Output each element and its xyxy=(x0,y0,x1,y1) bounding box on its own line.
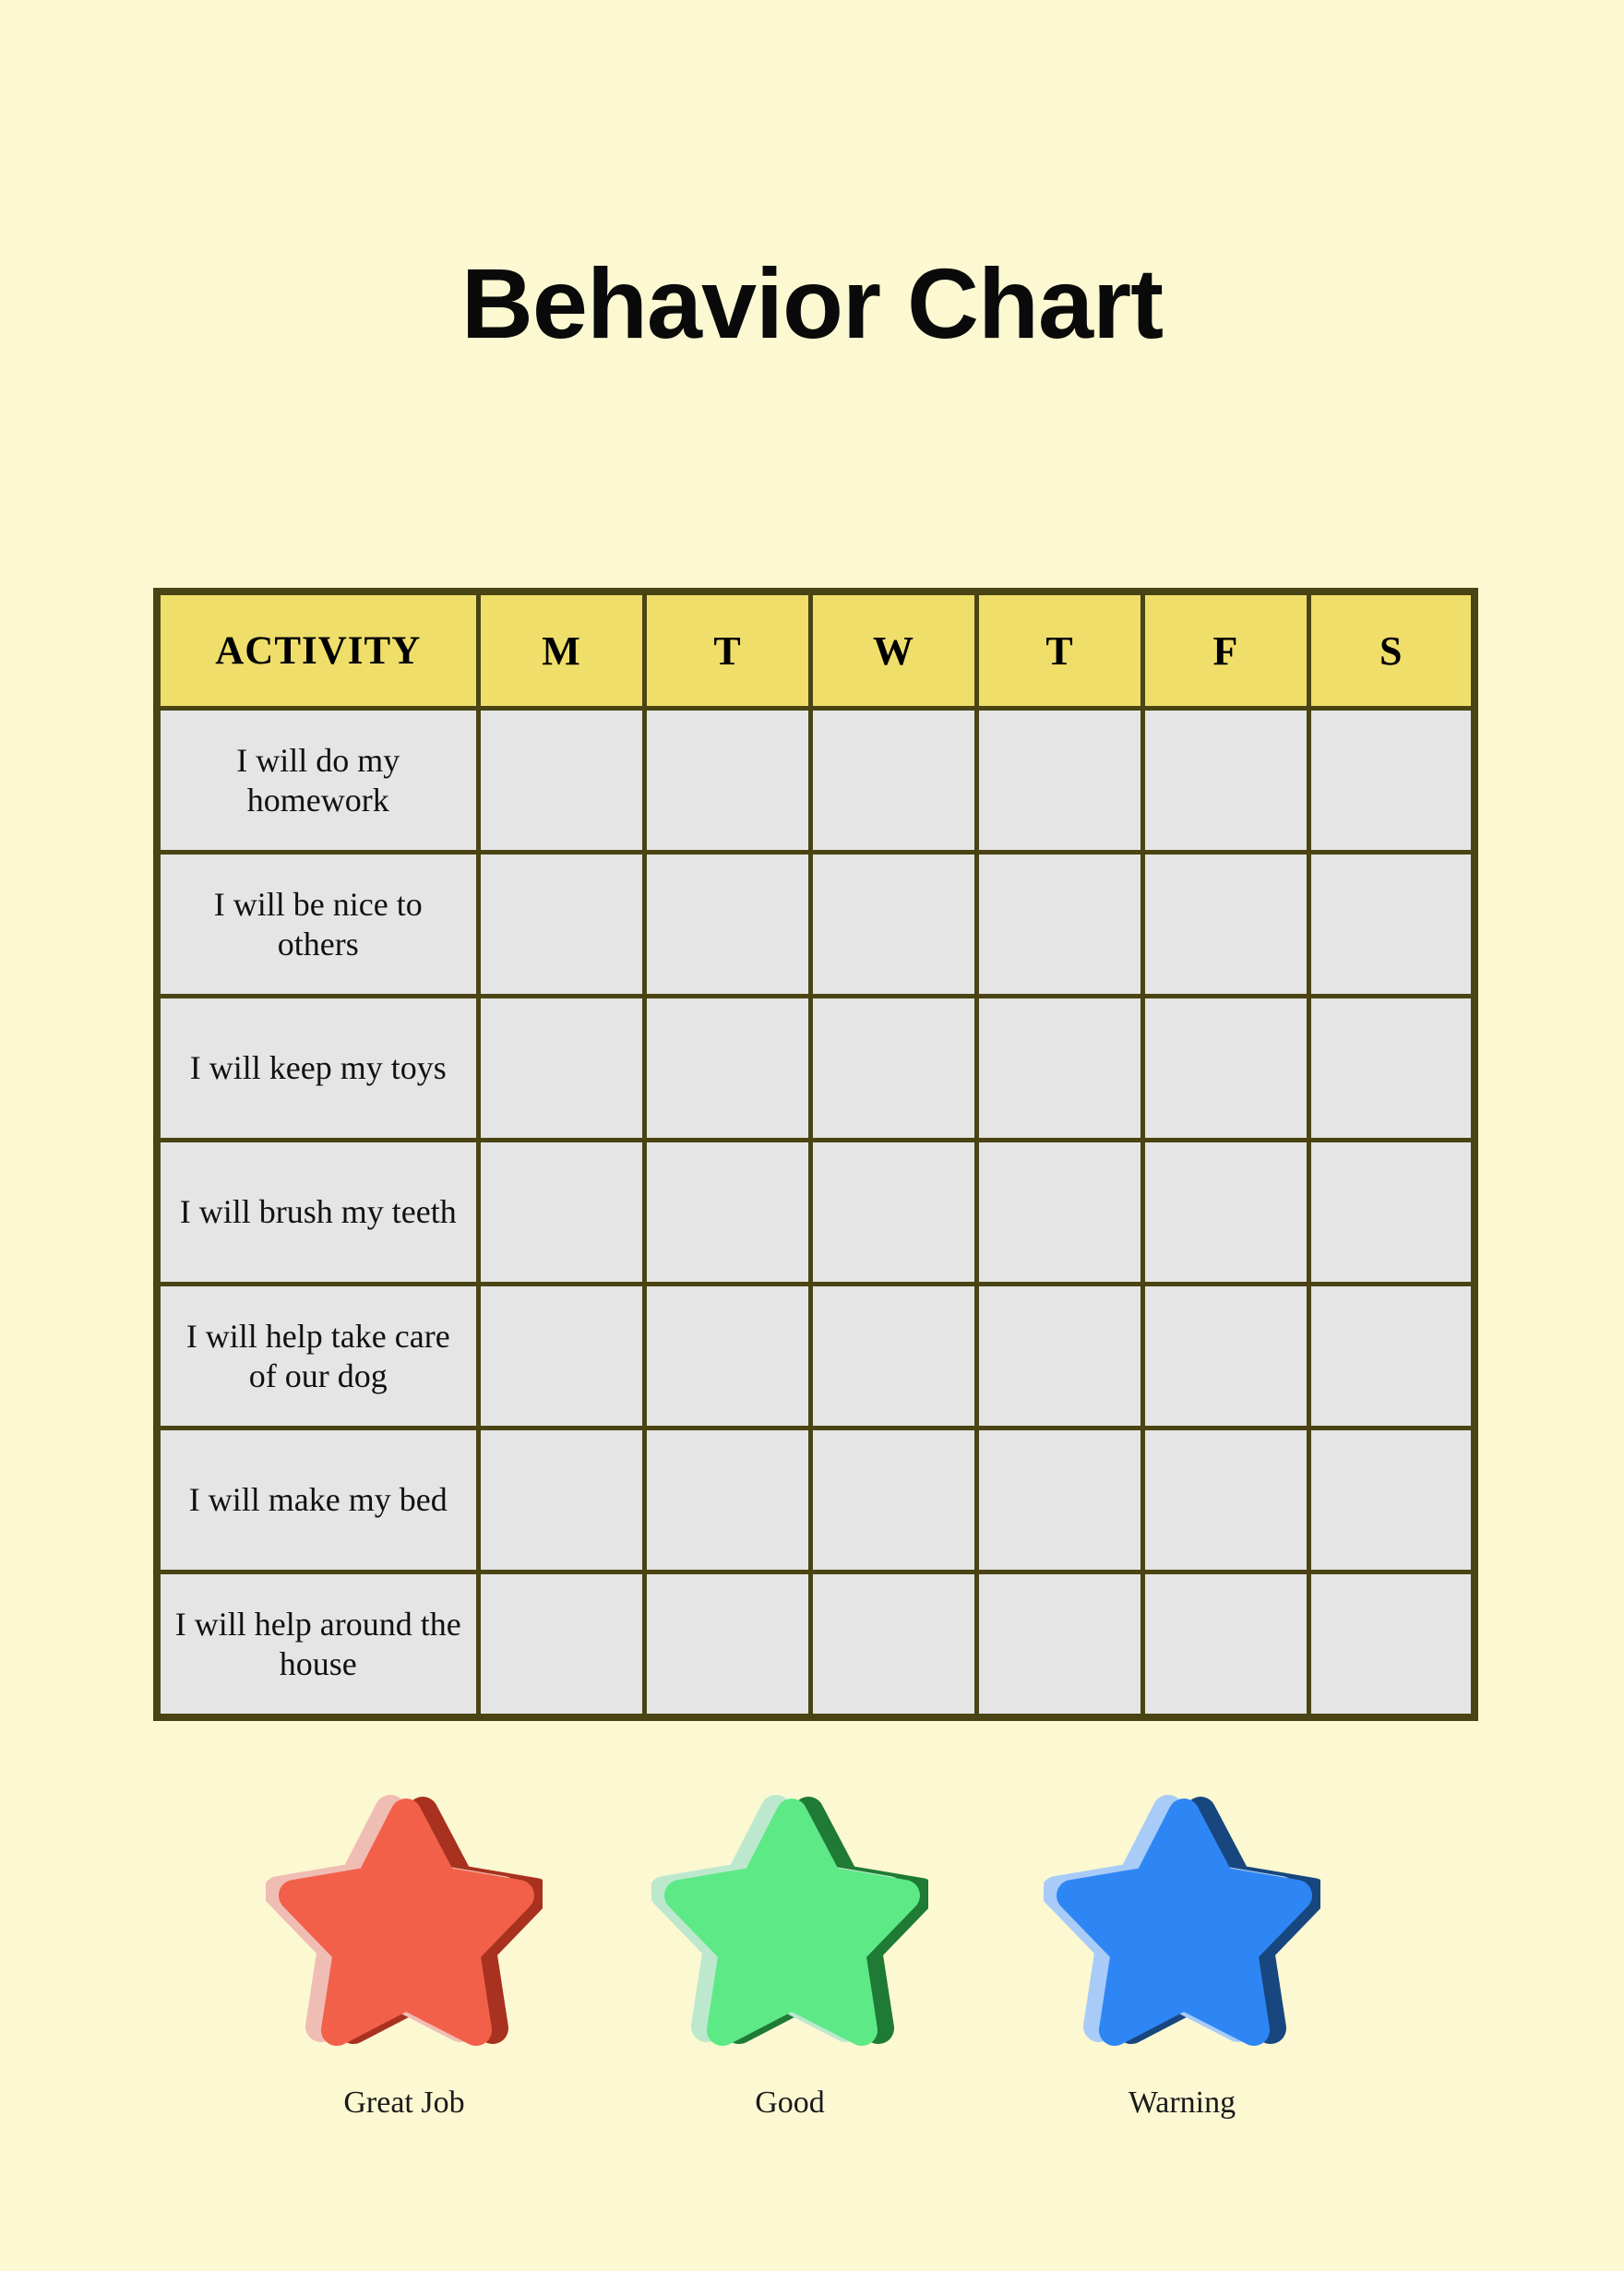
mark-cell[interactable] xyxy=(810,997,976,1141)
mark-cell[interactable] xyxy=(1142,997,1308,1141)
behavior-chart-table: ACTIVITY M T W T F S I will do my homewo… xyxy=(153,588,1478,1721)
star-icon-main-layer xyxy=(1044,1790,1320,2067)
mark-cell[interactable] xyxy=(976,1141,1142,1285)
mark-cell[interactable] xyxy=(976,709,1142,853)
star-icon xyxy=(1044,1790,1320,2067)
mark-cell[interactable] xyxy=(1308,1285,1475,1428)
mark-cell[interactable] xyxy=(976,1428,1142,1572)
column-header-monday: M xyxy=(478,592,644,709)
mark-cell[interactable] xyxy=(478,1572,644,1718)
activity-label: I will brush my teeth xyxy=(157,1141,478,1285)
star-main-path xyxy=(680,1814,904,2030)
behavior-chart-page: Behavior Chart ACTIVITY M T W T F S I wi… xyxy=(0,0,1624,2271)
column-header-activity: ACTIVITY xyxy=(157,592,478,709)
mark-cell[interactable] xyxy=(478,853,644,997)
mark-cell[interactable] xyxy=(810,1141,976,1285)
mark-cell[interactable] xyxy=(810,709,976,853)
mark-cell[interactable] xyxy=(478,709,644,853)
table-row: I will be nice to others xyxy=(157,853,1475,997)
mark-cell[interactable] xyxy=(478,1141,644,1285)
column-header-thursday: T xyxy=(976,592,1142,709)
mark-cell[interactable] xyxy=(478,1428,644,1572)
legend-label-great-job: Great Job xyxy=(229,2087,579,2119)
activity-label: I will do my homework xyxy=(157,709,478,853)
activity-label: I will help take care of our dog xyxy=(157,1285,478,1428)
mark-cell[interactable] xyxy=(1308,1141,1475,1285)
mark-cell[interactable] xyxy=(644,1428,810,1572)
star-icon-main-layer xyxy=(266,1790,543,2067)
activity-label: I will make my bed xyxy=(157,1428,478,1572)
page-title: Behavior Chart xyxy=(0,254,1624,353)
mark-cell[interactable] xyxy=(810,1285,976,1428)
mark-cell[interactable] xyxy=(478,997,644,1141)
table-row: I will brush my teeth xyxy=(157,1141,1475,1285)
mark-cell[interactable] xyxy=(1142,1572,1308,1718)
legend-label-warning: Warning xyxy=(1007,2087,1357,2119)
column-header-wednesday: W xyxy=(810,592,976,709)
legend-label-good: Good xyxy=(615,2087,965,2119)
mark-cell[interactable] xyxy=(644,853,810,997)
legend: Great Job Good xyxy=(153,1790,1471,2178)
mark-cell[interactable] xyxy=(810,853,976,997)
table-row: I will do my homework xyxy=(157,709,1475,853)
star-main-path xyxy=(294,1814,519,2030)
mark-cell[interactable] xyxy=(1308,1428,1475,1572)
star-icon xyxy=(651,1790,928,2067)
mark-cell[interactable] xyxy=(1142,709,1308,853)
legend-item-good[interactable]: Good xyxy=(615,1790,965,2119)
mark-cell[interactable] xyxy=(976,1572,1142,1718)
mark-cell[interactable] xyxy=(976,853,1142,997)
mark-cell[interactable] xyxy=(976,997,1142,1141)
table-body: I will do my homework I will be nice to … xyxy=(157,709,1475,1718)
mark-cell[interactable] xyxy=(644,1285,810,1428)
activity-label: I will help around the house xyxy=(157,1572,478,1718)
column-header-tuesday: T xyxy=(644,592,810,709)
star-main-path xyxy=(1072,1814,1296,2030)
mark-cell[interactable] xyxy=(644,997,810,1141)
mark-cell[interactable] xyxy=(1308,709,1475,853)
activity-label: I will keep my toys xyxy=(157,997,478,1141)
mark-cell[interactable] xyxy=(478,1285,644,1428)
table-row: I will help around the house xyxy=(157,1572,1475,1718)
mark-cell[interactable] xyxy=(1142,853,1308,997)
legend-item-great-job[interactable]: Great Job xyxy=(229,1790,579,2119)
activity-label: I will be nice to others xyxy=(157,853,478,997)
mark-cell[interactable] xyxy=(644,709,810,853)
table-row: I will make my bed xyxy=(157,1428,1475,1572)
mark-cell[interactable] xyxy=(644,1572,810,1718)
mark-cell[interactable] xyxy=(1142,1141,1308,1285)
table-header: ACTIVITY M T W T F S xyxy=(157,592,1475,709)
column-header-friday: F xyxy=(1142,592,1308,709)
mark-cell[interactable] xyxy=(1308,1572,1475,1718)
table-header-row: ACTIVITY M T W T F S xyxy=(157,592,1475,709)
mark-cell[interactable] xyxy=(1308,997,1475,1141)
table-row: I will help take care of our dog xyxy=(157,1285,1475,1428)
table-row: I will keep my toys xyxy=(157,997,1475,1141)
column-header-saturday: S xyxy=(1308,592,1475,709)
legend-item-warning[interactable]: Warning xyxy=(1007,1790,1357,2119)
star-icon xyxy=(266,1790,543,2067)
mark-cell[interactable] xyxy=(1308,853,1475,997)
mark-cell[interactable] xyxy=(1142,1285,1308,1428)
star-icon-main-layer xyxy=(651,1790,928,2067)
mark-cell[interactable] xyxy=(644,1141,810,1285)
mark-cell[interactable] xyxy=(810,1428,976,1572)
mark-cell[interactable] xyxy=(976,1285,1142,1428)
mark-cell[interactable] xyxy=(1142,1428,1308,1572)
mark-cell[interactable] xyxy=(810,1572,976,1718)
